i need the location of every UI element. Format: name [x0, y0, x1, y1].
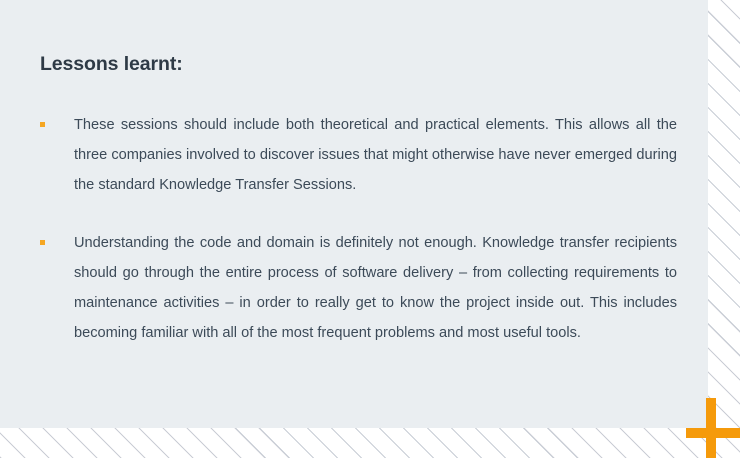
lesson-text: Understanding the code and domain is def… — [74, 228, 677, 348]
list-item: These sessions should include both theor… — [40, 110, 677, 200]
plus-bar-vertical — [706, 398, 716, 458]
square-bullet-icon — [40, 122, 45, 127]
plus-mark-icon — [686, 398, 740, 458]
lessons-list: These sessions should include both theor… — [40, 110, 677, 348]
list-item: Understanding the code and domain is def… — [40, 228, 677, 348]
page-title: Lessons learnt: — [40, 53, 183, 76]
content-panel: Lessons learnt: These sessions should in… — [0, 0, 708, 428]
slide-root: Lessons learnt: These sessions should in… — [0, 0, 740, 458]
square-bullet-icon — [40, 240, 45, 245]
lesson-text: These sessions should include both theor… — [74, 110, 677, 200]
